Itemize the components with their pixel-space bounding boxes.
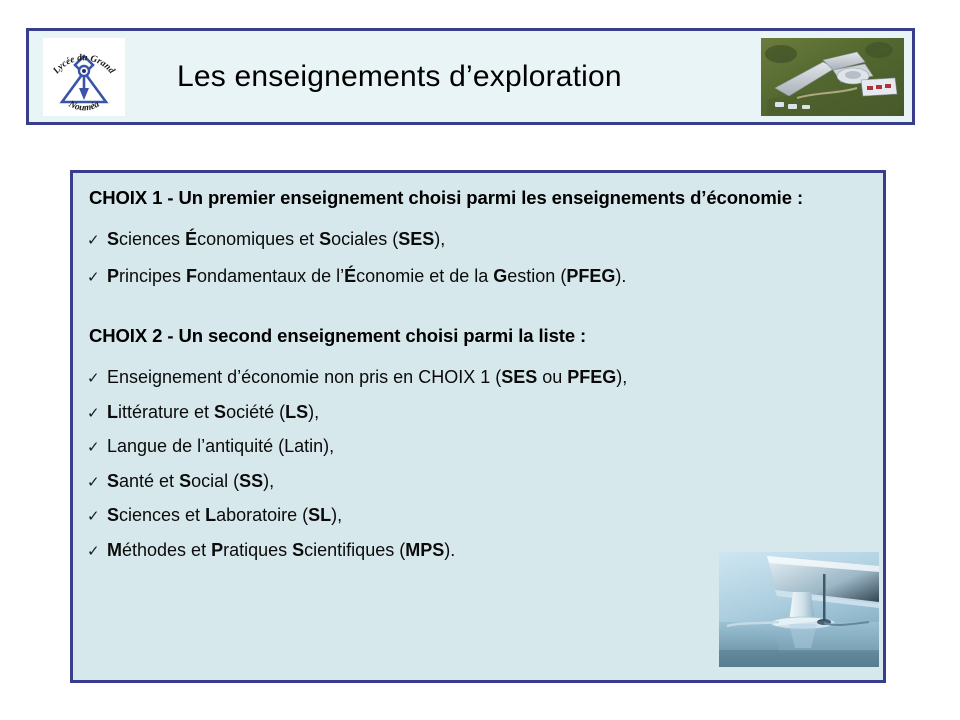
check-icon: ✓ (87, 406, 107, 421)
check-icon: ✓ (87, 371, 107, 386)
list-item-label: Langue de l’antiquité (Latin), (107, 435, 334, 458)
list-spacer (87, 458, 865, 470)
check-icon: ✓ (87, 440, 107, 455)
list-item-label: Sciences et Laboratoire (SL), (107, 504, 342, 527)
list-spacer (87, 251, 865, 265)
list-item[interactable]: ✓Principes Fondamentaux de l’Économie et… (87, 265, 865, 288)
list-item-label: Littérature et Société (LS), (107, 401, 319, 424)
list-spacer (87, 492, 865, 504)
list-item[interactable]: ✓Santé et Social (SS), (87, 470, 865, 493)
choix2-heading: CHOIX 2 - Un second enseignement choisi … (89, 323, 865, 348)
list-item[interactable]: ✓Littérature et Société (LS), (87, 401, 865, 424)
slide: Lycée du Grand Nouméa Les enseignements … (0, 0, 960, 720)
computer-monitor-photo-image (719, 552, 879, 667)
list-item[interactable]: ✓Enseignement d’économie non pris en CHO… (87, 366, 865, 389)
title-bar: Lycée du Grand Nouméa Les enseignements … (26, 28, 915, 125)
list-item-label: Santé et Social (SS), (107, 470, 274, 493)
check-icon: ✓ (87, 544, 107, 559)
check-icon: ✓ (87, 270, 107, 285)
choix2-list: ✓Enseignement d’économie non pris en CHO… (87, 366, 865, 561)
check-icon: ✓ (87, 233, 107, 248)
check-icon: ✓ (87, 509, 107, 524)
list-item[interactable]: ✓Sciences et Laboratoire (SL), (87, 504, 865, 527)
list-spacer (87, 389, 865, 401)
choix1-list: ✓Sciences Économiques et Sociales (SES),… (87, 228, 865, 287)
list-item[interactable]: ✓Sciences Économiques et Sociales (SES), (87, 228, 865, 251)
lycee-logo-icon: Lycée du Grand Nouméa (43, 38, 125, 116)
list-item-label: Principes Fondamentaux de l’Économie et … (107, 265, 626, 288)
list-item[interactable]: ✓Langue de l’antiquité (Latin), (87, 435, 865, 458)
page-title: Les enseignements d’exploration (177, 60, 622, 94)
list-spacer (87, 527, 865, 539)
list-item-label: Méthodes et Pratiques Scientifiques (MPS… (107, 539, 455, 562)
list-item-label: Enseignement d’économie non pris en CHOI… (107, 366, 627, 389)
lycee-logo: Lycée du Grand Nouméa (43, 38, 125, 116)
list-spacer (87, 423, 865, 435)
list-item-label: Sciences Économiques et Sociales (SES), (107, 228, 445, 251)
check-icon: ✓ (87, 475, 107, 490)
choix1-heading: CHOIX 1 - Un premier enseignement choisi… (89, 185, 865, 210)
aerial-school-photo (761, 38, 904, 116)
computer-monitor-photo (719, 552, 879, 667)
aerial-school-photo-image (761, 38, 904, 116)
